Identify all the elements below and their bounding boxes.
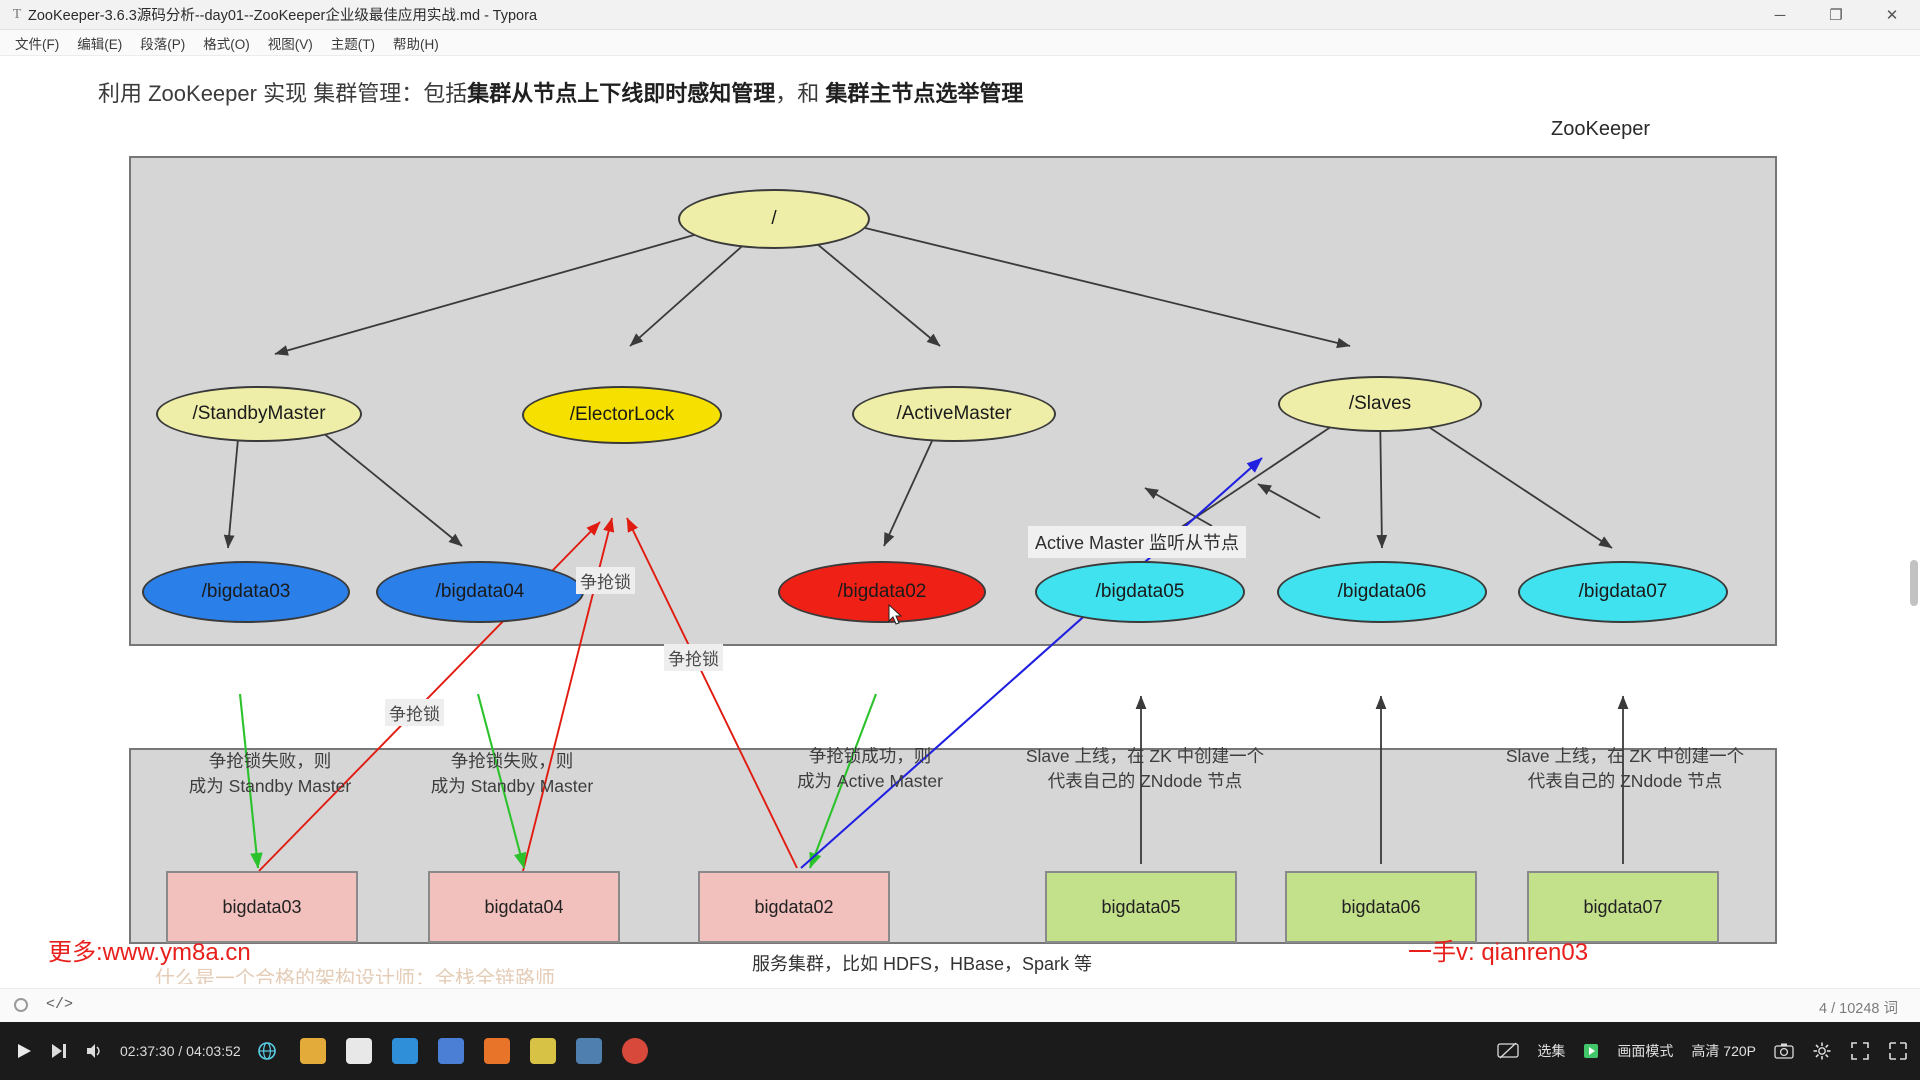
status-left-group: </> xyxy=(14,996,73,1013)
play-small-icon[interactable] xyxy=(1583,1043,1599,1059)
expand-icon[interactable] xyxy=(1850,1041,1870,1061)
camera-icon[interactable] xyxy=(1774,1042,1794,1060)
player-right-controls: 选集 画面模式 高清 720P xyxy=(1497,1041,1908,1061)
document-status-bar: </> 4 / 10248 词 xyxy=(0,988,1920,1022)
chrome-icon[interactable] xyxy=(622,1038,648,1064)
word-count: 4 / 10248 词 xyxy=(1819,997,1898,1018)
annotation-active-line1: 争抢锁成功，则 xyxy=(760,744,980,769)
znode-bigdata04-label: /bigdata04 xyxy=(436,581,525,603)
znode-bigdata05-label: /bigdata05 xyxy=(1096,581,1185,603)
menu-theme[interactable]: 主题(T) xyxy=(322,30,384,56)
circle-icon[interactable] xyxy=(14,998,28,1012)
typora-icon: T xyxy=(6,7,28,23)
annotation-slave-2-line1: Slave 上线，在 ZK 中创建一个 xyxy=(1480,744,1770,769)
annotation-standby-1: 争抢锁失败，则 成为 Standby Master xyxy=(170,749,370,800)
next-track-icon[interactable] xyxy=(50,1042,68,1060)
server-bigdata06-label: bigdata06 xyxy=(1341,897,1420,918)
mouse-cursor xyxy=(888,604,902,626)
notes-icon[interactable] xyxy=(576,1038,602,1064)
znode-bigdata07[interactable]: /bigdata07 xyxy=(1518,561,1728,623)
znode-activemaster[interactable]: /ActiveMaster xyxy=(852,386,1056,442)
annotation-active-line2: 成为 Active Master xyxy=(760,769,980,794)
server-bigdata02[interactable]: bigdata02 xyxy=(698,871,890,943)
lock-label-2: 争抢锁 xyxy=(664,644,723,671)
annotation-standby-2-line2: 成为 Standby Master xyxy=(412,774,612,799)
video-player-bar: 02:37:30 / 04:03:52 选集 画面模式 高清 720P xyxy=(0,1022,1920,1080)
annotation-slave-2: Slave 上线，在 ZK 中创建一个 代表自己的 ZNdode 节点 xyxy=(1480,744,1770,795)
fullscreen-icon[interactable] xyxy=(1888,1041,1908,1061)
znode-root-label: / xyxy=(771,208,776,230)
heading-text-1: 利用 ZooKeeper 实现 集群管理：包括 xyxy=(98,81,467,106)
znode-bigdata02[interactable]: /bigdata02 xyxy=(778,561,986,623)
window-controls: ─ ❐ ✕ xyxy=(1752,0,1920,30)
edge-icon[interactable] xyxy=(392,1038,418,1064)
folder-icon[interactable] xyxy=(300,1038,326,1064)
znode-bigdata06[interactable]: /bigdata06 xyxy=(1277,561,1487,623)
menu-help[interactable]: 帮助(H) xyxy=(384,30,448,56)
menu-edit[interactable]: 编辑(E) xyxy=(68,30,131,56)
znode-slaves-label: /Slaves xyxy=(1349,393,1411,415)
server-bigdata04-label: bigdata04 xyxy=(484,897,563,918)
page-title: 利用 ZooKeeper 实现 集群管理：包括集群从节点上下线即时感知管理，和 … xyxy=(98,76,1023,108)
window-icon[interactable] xyxy=(438,1038,464,1064)
znode-slaves[interactable]: /Slaves xyxy=(1278,376,1482,432)
znode-root[interactable]: / xyxy=(678,189,870,249)
play-icon[interactable] xyxy=(14,1041,34,1061)
heading-bold-2: 集群主节点选举管理 xyxy=(825,81,1023,106)
globe-icon[interactable] xyxy=(257,1041,277,1061)
annotation-slave-2-line2: 代表自己的 ZNdode 节点 xyxy=(1480,769,1770,794)
znode-standbymaster[interactable]: /StandbyMaster xyxy=(156,386,362,442)
znode-activemaster-label: /ActiveMaster xyxy=(896,403,1011,425)
znode-electorlock[interactable]: /ElectorLock xyxy=(522,386,722,444)
source-code-icon[interactable]: </> xyxy=(46,996,73,1013)
server-bigdata02-label: bigdata02 xyxy=(754,897,833,918)
znode-bigdata02-label: /bigdata02 xyxy=(838,581,927,603)
danmaku-off-icon[interactable] xyxy=(1497,1042,1519,1060)
annotation-slave-1-line2: 代表自己的 ZNdode 节点 xyxy=(1000,769,1290,794)
typora-icon[interactable] xyxy=(346,1038,372,1064)
annotation-slave-1: Slave 上线，在 ZK 中创建一个 代表自己的 ZNdode 节点 xyxy=(1000,744,1290,795)
menu-paragraph[interactable]: 段落(P) xyxy=(131,30,194,56)
maximize-button[interactable]: ❐ xyxy=(1808,0,1864,30)
player-time: 02:37:30 / 04:03:52 xyxy=(120,1043,241,1059)
annotation-active: 争抢锁成功，则 成为 Active Master xyxy=(760,744,980,795)
znode-bigdata07-label: /bigdata07 xyxy=(1579,581,1668,603)
close-button[interactable]: ✕ xyxy=(1864,0,1920,30)
taskbar-icons xyxy=(300,1038,648,1064)
screen-mode-label[interactable]: 画面模式 xyxy=(1617,1041,1673,1061)
znode-bigdata04[interactable]: /bigdata04 xyxy=(376,561,584,623)
menu-format[interactable]: 格式(O) xyxy=(194,30,259,56)
quality-label[interactable]: 高清 720P xyxy=(1691,1041,1756,1061)
annotation-standby-2: 争抢锁失败，则 成为 Standby Master xyxy=(412,749,612,800)
znode-electorlock-label: /ElectorLock xyxy=(570,404,675,426)
window-title: ZooKeeper-3.6.3源码分析--day01--ZooKeeper企业级… xyxy=(28,4,537,25)
server-bigdata07-label: bigdata07 xyxy=(1583,897,1662,918)
screen: T ZooKeeper-3.6.3源码分析--day01--ZooKeeper企… xyxy=(0,0,1920,1080)
server-bigdata05-label: bigdata05 xyxy=(1101,897,1180,918)
document-area[interactable]: 利用 ZooKeeper 实现 集群管理：包括集群从节点上下线即时感知管理，和 … xyxy=(0,56,1920,988)
player-left-controls: 02:37:30 / 04:03:52 xyxy=(0,1041,277,1061)
zookeeper-container-label: ZooKeeper xyxy=(1551,118,1650,141)
annotation-slave-1-line1: Slave 上线，在 ZK 中创建一个 xyxy=(1000,744,1290,769)
server-bigdata05[interactable]: bigdata05 xyxy=(1045,871,1237,943)
znode-bigdata06-label: /bigdata06 xyxy=(1338,581,1427,603)
znode-bigdata03[interactable]: /bigdata03 xyxy=(142,561,350,623)
menu-view[interactable]: 视图(V) xyxy=(259,30,322,56)
volume-icon[interactable] xyxy=(84,1041,104,1061)
minimize-button[interactable]: ─ xyxy=(1752,0,1808,30)
episodes-label[interactable]: 选集 xyxy=(1537,1041,1565,1061)
active-master-watch-label: Active Master 监听从节点 xyxy=(1028,526,1246,558)
menu-file[interactable]: 文件(F) xyxy=(6,30,68,56)
firefox-icon[interactable] xyxy=(484,1038,510,1064)
menu-bar: 文件(F) 编辑(E) 段落(P) 格式(O) 视图(V) 主题(T) 帮助(H… xyxy=(0,30,1920,56)
heading-bold-1: 集群从节点上下线即时感知管理 xyxy=(467,81,775,106)
annotation-standby-1-line2: 成为 Standby Master xyxy=(170,774,370,799)
annotation-standby-1-line1: 争抢锁失败，则 xyxy=(170,749,370,774)
vertical-scrollbar-thumb[interactable] xyxy=(1910,560,1918,606)
heading-text-2: ，和 xyxy=(775,81,825,106)
lock-label-3: 争抢锁 xyxy=(385,699,444,726)
server-bigdata04[interactable]: bigdata04 xyxy=(428,871,620,943)
title-bar: T ZooKeeper-3.6.3源码分析--day01--ZooKeeper企… xyxy=(0,0,1920,30)
watermark-right: 一手v: qianren03 xyxy=(1408,932,1588,967)
gear-icon[interactable] xyxy=(1812,1041,1832,1061)
znode-bigdata03-label: /bigdata03 xyxy=(202,581,291,603)
znode-bigdata05[interactable]: /bigdata05 xyxy=(1035,561,1245,623)
znode-standbymaster-label: /StandbyMaster xyxy=(192,403,325,425)
server-bigdata03-label: bigdata03 xyxy=(222,897,301,918)
lock-label-1: 争抢锁 xyxy=(576,567,635,594)
app-icon[interactable] xyxy=(530,1038,556,1064)
next-paragraph-faint: 什么是一个合格的架构设计师：全栈全链路师 xyxy=(155,962,1255,984)
typora-window: T ZooKeeper-3.6.3源码分析--day01--ZooKeeper企… xyxy=(0,0,1920,1022)
annotation-standby-2-line1: 争抢锁失败，则 xyxy=(412,749,612,774)
